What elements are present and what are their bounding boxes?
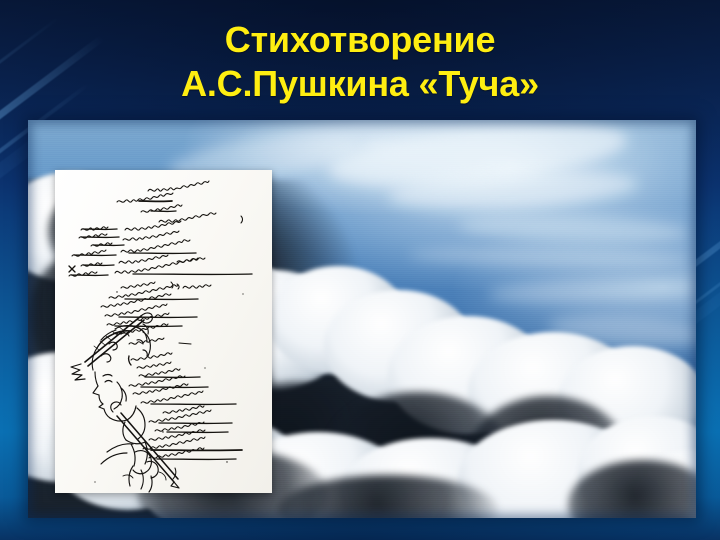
presentation-slide: .hw { stroke:#15130f; fill:none; stroke-… [0, 0, 720, 540]
manuscript-handwriting [69, 181, 252, 479]
manuscript-ink-drawing: .hw { stroke:#15130f; fill:none; stroke-… [55, 170, 272, 493]
quill-pen-sketch [71, 313, 152, 380]
pushkin-manuscript-page: .hw { stroke:#15130f; fill:none; stroke-… [55, 170, 272, 493]
